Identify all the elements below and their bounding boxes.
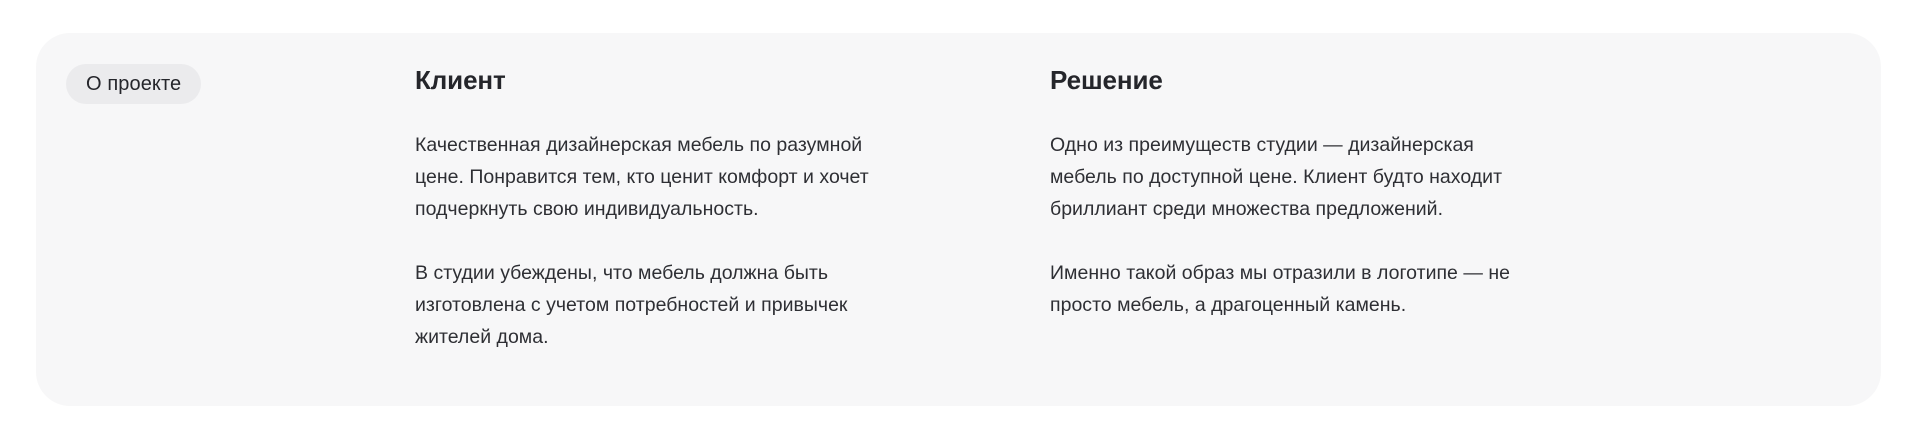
page-root: О проекте Клиент Качественная дизайнерск… <box>0 0 1920 446</box>
column-solution-paragraph-1: Одно из преимуществ студии — дизайнерска… <box>1050 129 1540 225</box>
column-solution-heading: Решение <box>1050 64 1685 96</box>
column-solution: Решение Одно из преимуществ студии — диз… <box>1050 64 1685 353</box>
column-client: Клиент Качественная дизайнерская мебель … <box>415 64 1050 353</box>
column-client-heading: Клиент <box>415 64 1050 96</box>
about-project-badge-label: О проекте <box>86 74 181 94</box>
column-client-paragraph-2: В студии убеждены, что мебель должна быт… <box>415 257 915 353</box>
about-project-card: О проекте Клиент Качественная дизайнерск… <box>36 33 1881 406</box>
column-solution-paragraph-2: Именно такой образ мы отразили в логотип… <box>1050 257 1540 321</box>
column-client-paragraph-1: Качественная дизайнерская мебель по разу… <box>415 129 915 225</box>
content-columns: Клиент Качественная дизайнерская мебель … <box>415 64 1881 353</box>
about-project-badge: О проекте <box>66 64 201 104</box>
